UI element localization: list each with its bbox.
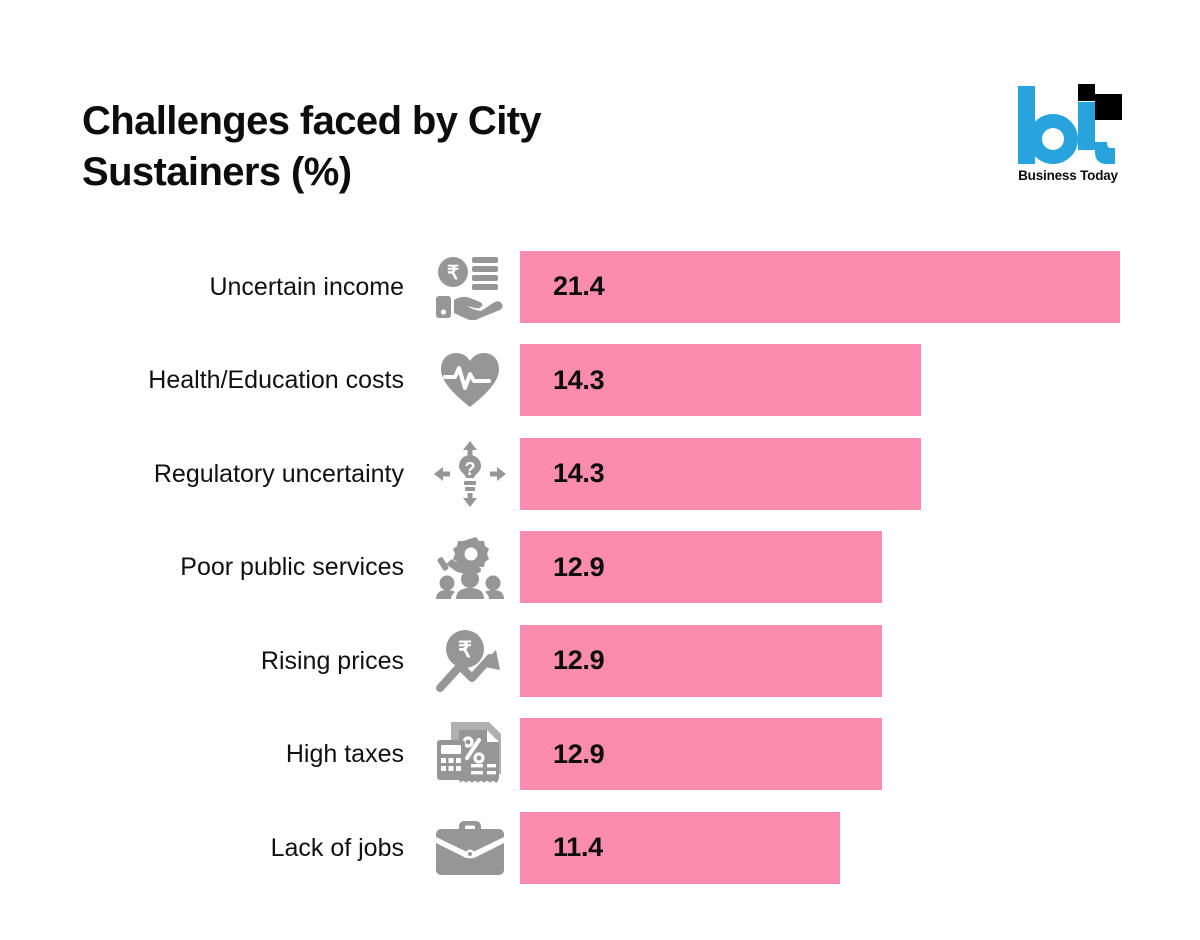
chart-row: Health/Education costs 14.3 [0, 334, 1200, 428]
bar: 12.9 [520, 625, 882, 697]
bar: 21.4 [520, 251, 1120, 323]
bar: 12.9 [520, 531, 882, 603]
category-label: Health/Education costs [60, 365, 404, 395]
bar-track: 21.4 [520, 251, 1160, 323]
category-label: Rising prices [60, 646, 404, 676]
svg-text:?: ? [465, 459, 476, 479]
bar-value-label: 21.4 [553, 271, 604, 302]
chart-row: High taxes [0, 708, 1200, 802]
bar-track: 12.9 [520, 718, 1160, 790]
bar: 11.4 [520, 812, 840, 884]
chart-row: Poor public services 12.9 [0, 521, 1200, 615]
chart-header: Challenges faced by City Sustainers (%) … [0, 0, 1200, 230]
bar: 14.3 [520, 344, 921, 416]
bar-value-label: 12.9 [553, 739, 604, 770]
category-label: Poor public services [60, 552, 404, 582]
horizontal-bar-chart: Uncertain income ₹ 21.4 Health/Education… [0, 240, 1200, 895]
logo-wordmark: Business Today [1014, 168, 1122, 183]
heart-pulse-icon [432, 344, 508, 416]
tax-invoice-calculator-icon [432, 718, 508, 790]
page-title: Challenges faced by City Sustainers (%) [82, 96, 782, 198]
bar-track: 12.9 [520, 531, 1160, 603]
chart-row: Uncertain income ₹ 21.4 [0, 240, 1200, 334]
business-today-logo: Business Today [1014, 84, 1122, 192]
bar: 14.3 [520, 438, 921, 510]
briefcase-icon [432, 812, 508, 884]
category-label: Lack of jobs [60, 833, 404, 863]
bar-value-label: 12.9 [553, 645, 604, 676]
question-bulb-arrows-icon: ? [432, 438, 508, 510]
bar-track: 14.3 [520, 438, 1160, 510]
people-gear-service-icon [432, 531, 508, 603]
category-label: High taxes [60, 739, 404, 769]
bar-value-label: 11.4 [553, 832, 603, 863]
bar-value-label: 14.3 [553, 458, 604, 489]
chart-row: Rising prices ₹ 12.9 [0, 614, 1200, 708]
bar-value-label: 12.9 [553, 552, 604, 583]
bar-track: 12.9 [520, 625, 1160, 697]
rupee-rising-arrow-icon: ₹ [432, 625, 508, 697]
category-label: Regulatory uncertainty [60, 459, 404, 489]
bar-track: 11.4 [520, 812, 1160, 884]
svg-text:₹: ₹ [458, 637, 472, 662]
category-label: Uncertain income [60, 272, 404, 302]
bar-track: 14.3 [520, 344, 1160, 416]
bt-logo-mark-icon [1014, 84, 1122, 166]
bar: 12.9 [520, 718, 882, 790]
bar-value-label: 14.3 [553, 365, 604, 396]
chart-row: Regulatory uncertainty ? 14.3 [0, 427, 1200, 521]
chart-row: Lack of jobs 11.4 [0, 801, 1200, 895]
hand-holding-rupee-coins-icon: ₹ [432, 251, 508, 323]
svg-text:₹: ₹ [447, 263, 459, 284]
